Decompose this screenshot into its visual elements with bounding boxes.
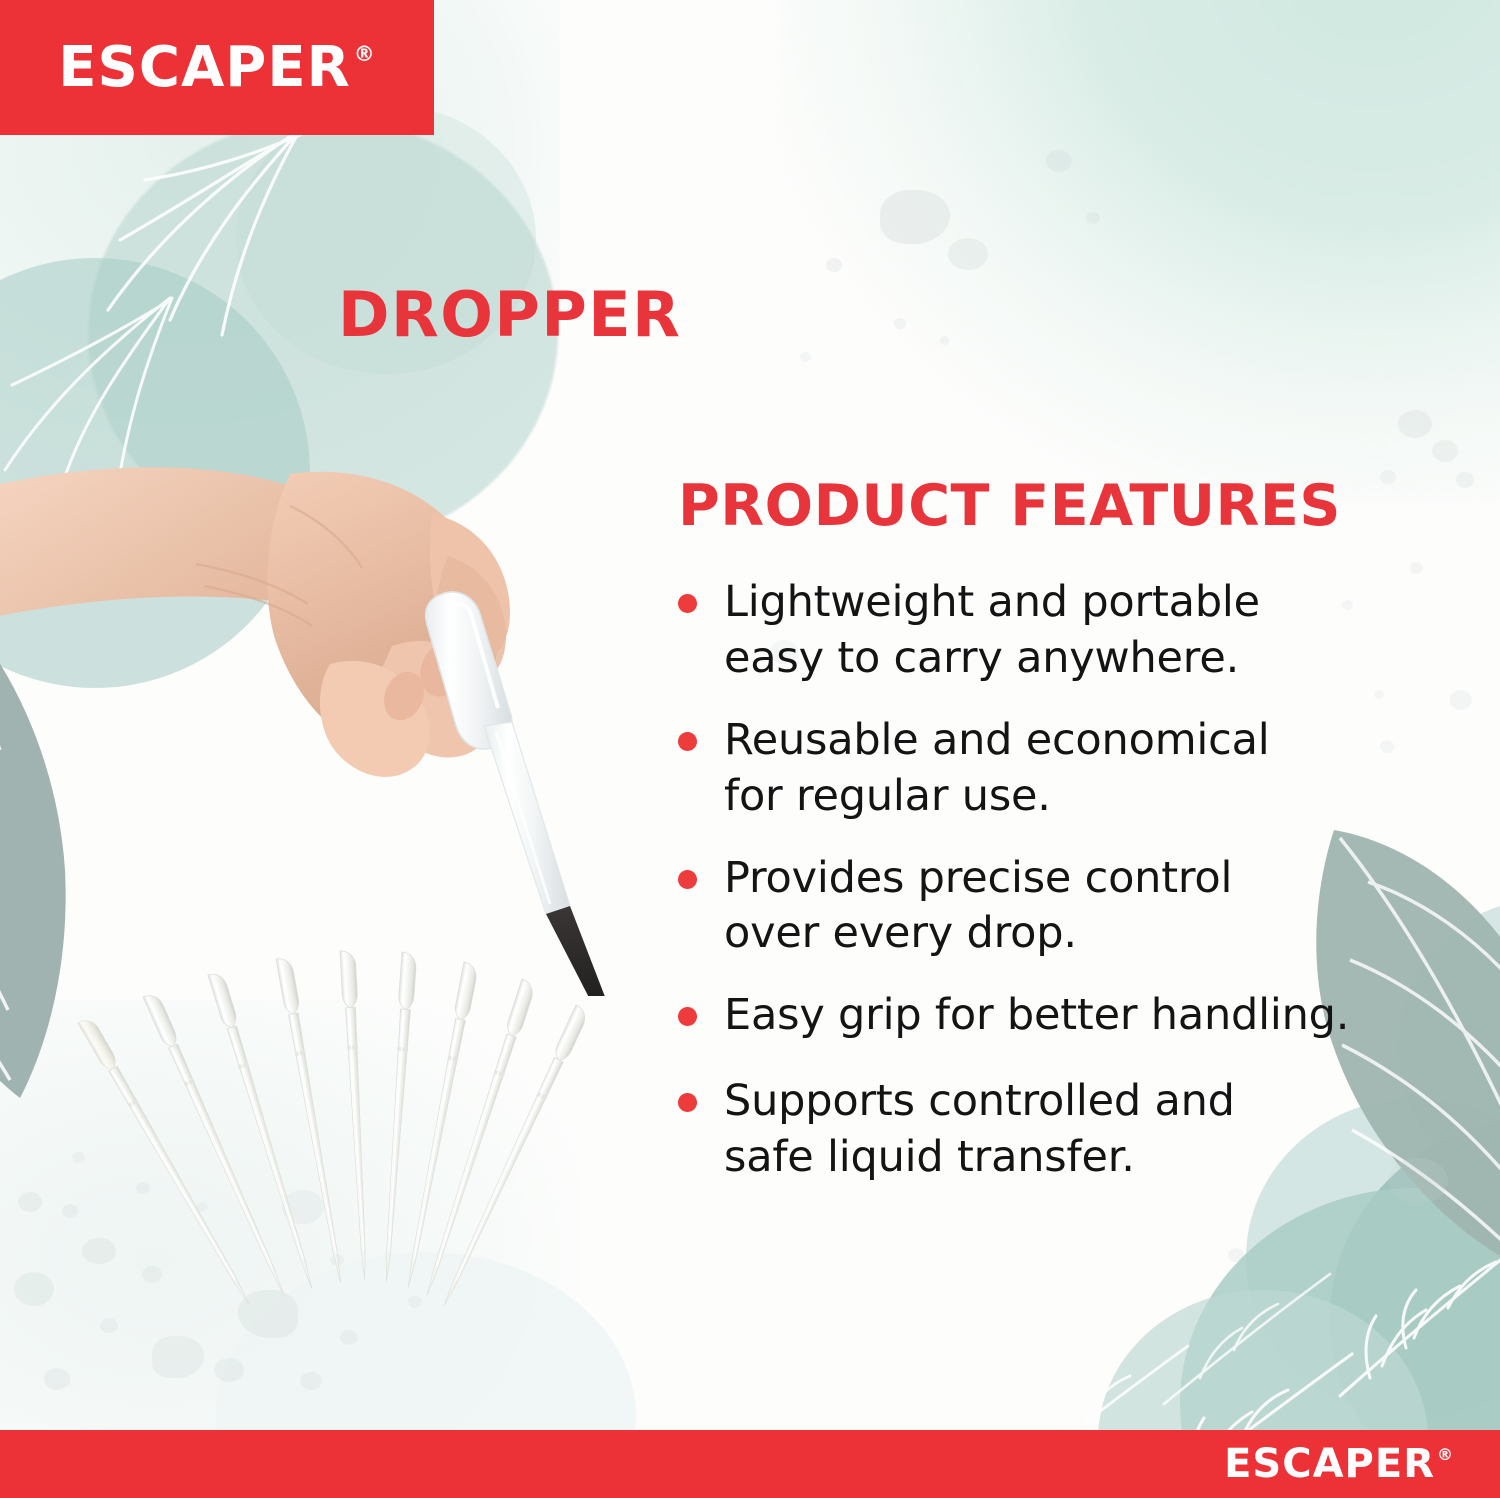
splatter-dot xyxy=(948,238,988,270)
splatter-dot xyxy=(340,1330,358,1345)
splatter-dot xyxy=(880,190,950,244)
splatter-dot xyxy=(1380,470,1396,484)
hand-holding-dropper-photo xyxy=(0,396,690,996)
splatter-dot xyxy=(300,1372,322,1390)
feature-item: Lightweight and portable easy to carry a… xyxy=(678,575,1438,687)
splatter-dot xyxy=(18,1192,42,1212)
feature-item: Reusable and economical for regular use. xyxy=(678,713,1438,825)
bullet-dot-icon xyxy=(678,870,697,889)
nine-pipettes-fan-photo xyxy=(40,935,660,1305)
splatter-dot xyxy=(1228,1248,1244,1262)
splatter-dot xyxy=(214,1358,244,1382)
splatter-dot xyxy=(44,1368,70,1390)
registered-trademark-icon: ® xyxy=(1437,1447,1454,1463)
features-list: Lightweight and portable easy to carry a… xyxy=(678,575,1438,1212)
pine-sprig-icon xyxy=(1330,1226,1500,1406)
brand-wordmark: ESCAPER ® xyxy=(58,40,375,96)
bullet-dot-icon xyxy=(678,1093,697,1112)
feature-item: Provides precise control over every drop… xyxy=(678,851,1438,963)
bullet-dot-icon xyxy=(678,732,697,751)
feature-text: Provides precise control over every drop… xyxy=(724,851,1232,963)
splatter-dot xyxy=(100,1318,118,1333)
splatter-dot xyxy=(1432,440,1458,462)
splatter-dot xyxy=(1450,690,1472,710)
mint-gradient-wash-top-right xyxy=(780,0,1500,500)
splatter-dot xyxy=(152,1336,204,1378)
feature-text: Lightweight and portable easy to carry a… xyxy=(724,575,1260,687)
product-infographic-canvas: ESCAPER ® DROPPER xyxy=(0,0,1500,1498)
pine-sprig-icon xyxy=(1158,1262,1338,1412)
splatter-dot xyxy=(1086,212,1100,224)
splatter-dot xyxy=(894,318,906,329)
brand-logo-header: ESCAPER ® xyxy=(0,0,434,135)
bullet-dot-icon xyxy=(678,594,697,613)
splatter-dot xyxy=(826,258,842,272)
page-title: DROPPER xyxy=(338,278,681,351)
brand-name-text: ESCAPER xyxy=(58,40,350,96)
feature-item: Easy grip for better handling. xyxy=(678,988,1438,1044)
splatter-dot xyxy=(940,336,949,345)
splatter-dot xyxy=(1398,410,1432,438)
splatter-dot xyxy=(1456,472,1474,488)
brand-wordmark: ESCAPER ® xyxy=(1224,1444,1454,1484)
splatter-dot xyxy=(1410,562,1423,574)
brand-logo-footer: ESCAPER ® xyxy=(0,1430,1500,1498)
features-heading: PRODUCT FEATURES xyxy=(678,473,1341,539)
feature-text: Reusable and economical for regular use. xyxy=(724,713,1269,825)
fern-sprig-icon xyxy=(50,120,310,350)
brand-name-text: ESCAPER xyxy=(1224,1444,1435,1484)
feature-text: Supports controlled and safe liquid tran… xyxy=(724,1074,1235,1186)
registered-trademark-icon: ® xyxy=(354,44,376,65)
feature-item: Supports controlled and safe liquid tran… xyxy=(678,1074,1438,1186)
splatter-dot xyxy=(800,352,811,362)
feature-text: Easy grip for better handling. xyxy=(724,988,1349,1044)
splatter-dot xyxy=(1046,150,1072,172)
bullet-dot-icon xyxy=(678,1007,697,1026)
